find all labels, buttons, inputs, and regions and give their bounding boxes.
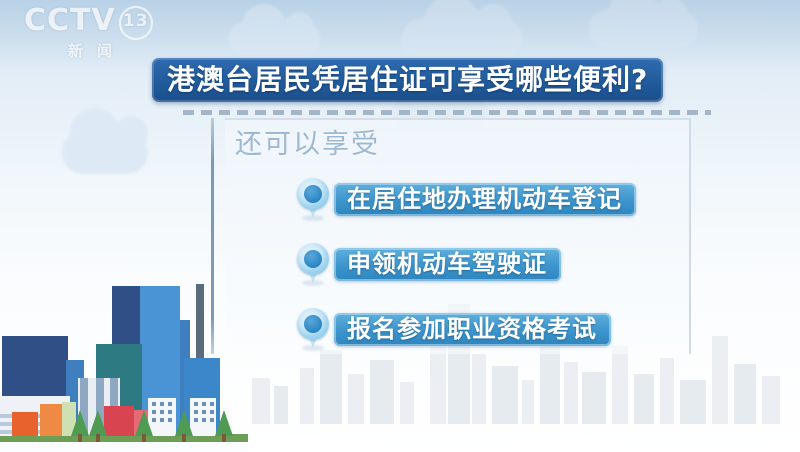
logo-wordmark: CCTV xyxy=(24,3,116,38)
logo-channel-name: 新闻 xyxy=(24,44,156,59)
list-item: 报名参加职业资格考试 xyxy=(296,308,611,350)
benefit-label: 申领机动车驾驶证 xyxy=(347,252,547,276)
benefit-pill: 报名参加职业资格考试 xyxy=(334,313,611,346)
panel-top-border xyxy=(225,118,691,120)
benefit-pill: 在居住地办理机动车登记 xyxy=(334,183,636,216)
benefit-pill: 申领机动车驾驶证 xyxy=(334,248,561,281)
benefit-label: 报名参加职业资格考试 xyxy=(347,317,597,341)
benefit-label: 在居住地办理机动车登记 xyxy=(347,187,622,211)
cloud-icon xyxy=(62,128,148,174)
logo-channel-number: 13 xyxy=(119,6,153,40)
location-pin-icon xyxy=(296,308,330,350)
panel-right-border xyxy=(689,118,691,354)
dashed-divider xyxy=(183,110,711,115)
location-pin-icon xyxy=(296,243,330,285)
location-pin-icon xyxy=(296,178,330,220)
city-illustration xyxy=(0,280,248,452)
cloud-icon xyxy=(402,18,522,58)
cloud-icon xyxy=(588,10,698,48)
page-title: 港澳台居民凭居住证可享受哪些便利? xyxy=(167,66,648,94)
cctv-logo: CCTV13 新闻 xyxy=(24,6,156,64)
list-item: 申领机动车驾驶证 xyxy=(296,243,561,285)
headline-banner: 港澳台居民凭居住证可享受哪些便利? xyxy=(152,58,663,102)
broadcast-screen: CCTV13 新闻 港澳台居民凭居住证可享受哪些便利? 还可以享受 在居住地办理… xyxy=(0,0,800,452)
panel-subheading: 还可以享受 xyxy=(235,131,380,158)
cloud-icon xyxy=(228,22,320,56)
list-item: 在居住地办理机动车登记 xyxy=(296,178,636,220)
